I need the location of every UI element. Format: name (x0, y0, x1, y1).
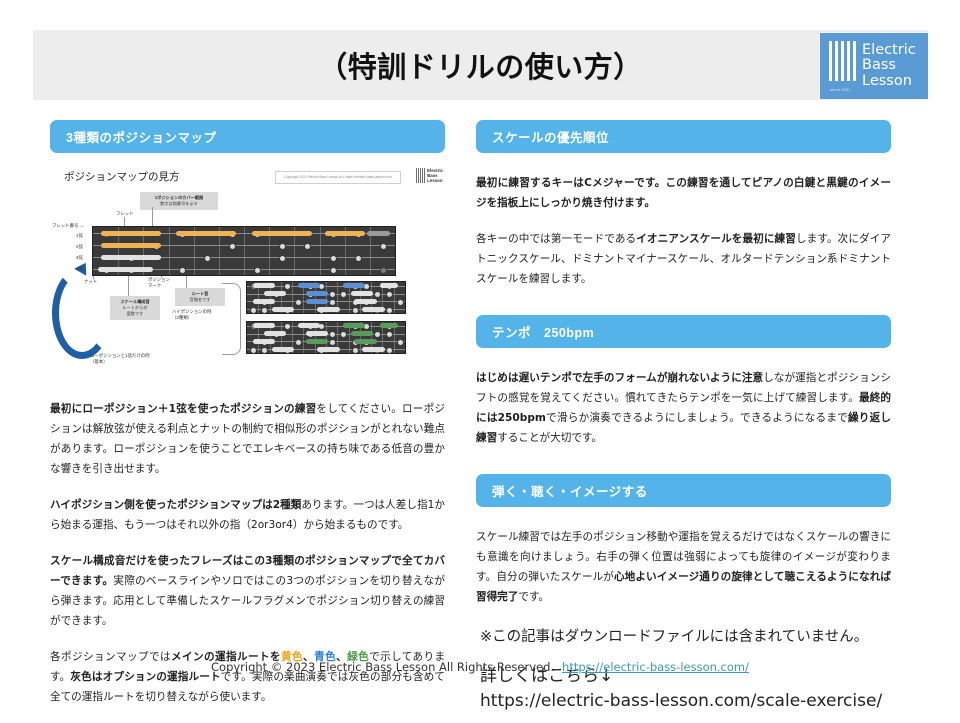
fret-dot (380, 267, 387, 274)
fret-dot (204, 255, 211, 262)
fingering-route (343, 323, 366, 328)
fret-dot (330, 267, 337, 274)
fret-line (169, 227, 170, 275)
fingering-route (306, 291, 329, 296)
string-label-3: 3弦 (76, 255, 83, 261)
fingering-route (253, 299, 276, 304)
left-paragraph-3: スケール構成音だけを使ったフレーズはこの3種類のポジションマップで全てカバーでき… (50, 551, 445, 631)
fret-dot (250, 347, 257, 354)
fingering-route (252, 231, 312, 236)
section-header-label: 3種類のポジションマップ (66, 127, 216, 146)
fingering-route (101, 255, 161, 260)
diagram-label-fret-number: フレット番号 → (52, 223, 84, 229)
fingering-route (253, 283, 276, 288)
diagram-callout-scale-tones: スケール構成音 ルートからの 度数です (110, 296, 160, 320)
section-header-2: テンポ 250bpm (476, 315, 891, 348)
fingering-route (380, 283, 398, 288)
fret-dot (295, 339, 302, 346)
fret-dot (374, 331, 381, 338)
position-map-diagram: ポジションマップの見方 Copyright 2021 Electric Bass… (50, 163, 445, 395)
fret-dot (340, 331, 347, 338)
fret-dot (329, 339, 336, 346)
fret-dot (386, 347, 393, 354)
diagram-brace (222, 283, 241, 355)
string-label-2: 2弦 (76, 244, 83, 250)
fret-dot (329, 331, 336, 338)
fret-dot (254, 267, 261, 274)
fingering-route (343, 283, 366, 288)
string-label-1: 1弦 (76, 233, 83, 239)
right-column: スケールの優先順位最初に練習するキーはCメジャーです。この練習を通してピアノの白… (476, 120, 891, 714)
text-run: はじめは遅いテンポで左手のフォームが崩れないように注意 (476, 372, 763, 384)
fingering-route (298, 283, 321, 288)
fingering-route (101, 231, 161, 236)
fingering-route (317, 347, 340, 352)
logo-strings-icon: since 2021 (829, 41, 856, 92)
fingering-route (176, 231, 236, 236)
fret-dot (355, 255, 362, 262)
diagram-label-high-position-2: （2種類） (172, 315, 192, 321)
fret-dot (386, 291, 393, 298)
fret-dot (352, 347, 359, 354)
fingering-route (298, 323, 321, 328)
fingering-route (98, 267, 153, 272)
page-title: （特訓ドリルの使い方） (33, 30, 928, 100)
left-paragraph-2: ハイポジション側を使ったポジションマップは2種類あります。一つは人差し指1から始… (50, 495, 445, 535)
note-disclaimer: ※この記事はダウンロードファイルには含まれていません。 (476, 625, 891, 646)
section-header-3: 弾く・聴く・イメージする (476, 474, 891, 507)
fret-dot (279, 243, 286, 250)
main-fretboard (92, 226, 396, 276)
fingering-route (354, 299, 377, 304)
text-run: 各キーの中では第一モードである (476, 233, 636, 245)
fingering-route (362, 307, 385, 312)
fret-dot (284, 283, 291, 290)
footer: Copyright © 2023 Electric Bass Lesson Al… (0, 660, 960, 674)
left-column: 3種類のポジションマップ ポジションマップの見方 Copyright 2021 … (50, 120, 445, 723)
fingering-route (351, 331, 374, 336)
fret-dot (304, 243, 311, 250)
text-run: です。 (518, 591, 549, 603)
logo-line-2: Bass (862, 58, 916, 74)
text-run: 最初に練習するキーはCメジャーです。この練習を通して (476, 177, 752, 189)
logo-line-3: Lesson (862, 74, 916, 90)
diagram-label-low-position-2: （基本） (90, 359, 108, 365)
diagram-logo-strings-icon (416, 168, 425, 183)
diagram-logo-wordmark: Electric Bass Lesson (427, 168, 443, 184)
fingering-route (351, 291, 374, 296)
fingering-route (325, 231, 365, 236)
brand-logo: since 2021 Electric Bass Lesson (820, 33, 928, 99)
fret-dot (279, 255, 286, 262)
fret-dot (261, 347, 268, 354)
diagram-leader-cover (152, 207, 153, 227)
fingering-route (253, 323, 276, 328)
text-run: で滑らか演奏できるようにしましょう。できるようになるまで (546, 412, 848, 424)
logo-wordmark: Electric Bass Lesson (862, 43, 916, 90)
fret-dot (352, 307, 359, 314)
right-paragraph-1-1: 最初に練習するキーはCメジャーです。この練習を通してピアノの白鍵と黒鍵のイメージ… (476, 173, 891, 213)
fret-dot (374, 291, 381, 298)
left-paragraph-4: 各ポジションマップではメインの運指ルートを黄色、青色、緑色で示してあります。灰色… (50, 647, 445, 707)
right-paragraph-2-1: はじめは遅いテンポで左手のフォームが崩れないように注意しなが運指とポジションシフ… (476, 368, 891, 448)
right-paragraph-1-2: 各キーの中では第一モードであるイオニアンスケールを最初に練習します。次にダイアト… (476, 229, 891, 289)
diagram-logo: Electric Bass Lesson (416, 168, 443, 184)
fret-dot (397, 299, 404, 306)
fingering-route (306, 331, 329, 336)
section-header-position-maps: 3種類のポジションマップ (50, 120, 445, 153)
section-header-label: テンポ 250bpm (492, 322, 594, 341)
fingering-route (380, 323, 398, 328)
text-run: することが大切です。 (497, 432, 602, 444)
fingering-route (272, 347, 295, 352)
diagram-logo-line-3: Lesson (427, 178, 443, 183)
right-column-sections: スケールの優先順位最初に練習するキーはCメジャーです。この練習を通してピアノの白… (476, 120, 891, 607)
fret-dot (229, 243, 236, 250)
fret-dot (284, 323, 291, 330)
section-header-label: スケールの優先順位 (492, 127, 609, 146)
fret-dot (295, 299, 302, 306)
diagram-label-position-mark-2: マーク (148, 283, 161, 289)
fret-dot (386, 307, 393, 314)
text-run: ハイポジション側を使ったポジションマップは2種類 (50, 499, 301, 511)
fret-dot (386, 331, 393, 338)
fret-dot (179, 267, 186, 274)
high-position-fretboard-2 (246, 321, 406, 354)
right-paragraph-3-1: スケール練習では左手のポジション移動や運指を覚えるだけではなくスケールの響きにも… (476, 527, 891, 607)
diagram-callout-root-line-2: 音階名です (179, 297, 221, 303)
fret-dot (397, 339, 404, 346)
fingering-route (272, 307, 295, 312)
diagram-callout-cover-line-2: 数字は指番号を示す (144, 201, 214, 207)
fingering-route (306, 339, 329, 344)
logo-since-text: since 2021 (830, 88, 851, 92)
fret-dot (329, 291, 336, 298)
header-band: （特訓ドリルの使い方） (33, 30, 928, 100)
diagram-title: ポジションマップの見方 (64, 169, 180, 184)
diagram-callout-root-note: ルート音 音階名です (175, 288, 225, 306)
high-position-fretboard-1 (246, 281, 406, 314)
diagram-copyright-box: Copyright 2021 Electric Bass Lesson ALL … (275, 171, 401, 184)
fret-dot (250, 307, 257, 314)
diagram-callout-scale-line-3: 度数です (114, 311, 156, 317)
diagram-leader-fret (124, 217, 125, 226)
fingering-route (264, 291, 287, 296)
fret-line (244, 227, 245, 275)
left-paragraph-1: 最初にローポジション＋1弦を使ったポジションの練習をしてください。ローポジション… (50, 399, 445, 479)
note-more-url[interactable]: https://electric-bass-lesson.com/scale-e… (480, 689, 891, 714)
fret-dot (330, 255, 337, 262)
fingering-route (354, 339, 377, 344)
fret-dot (329, 299, 336, 306)
section-header-1: スケールの優先順位 (476, 120, 891, 153)
fingering-route (317, 307, 340, 312)
footer-link[interactable]: https://electric-bass-lesson.com/ (562, 660, 749, 674)
logo-line-1: Electric (862, 43, 916, 59)
fret-dot (340, 291, 347, 298)
fingering-route (101, 243, 161, 248)
text-run: 最初にローポジション＋1弦を使ったポジションの練習 (50, 403, 316, 415)
fret-dot (380, 243, 387, 250)
fingering-route (264, 331, 287, 336)
fingering-route (253, 339, 276, 344)
fingering-route (306, 299, 329, 304)
text-run: イオニアンスケールを最初に練習 (636, 233, 796, 245)
string-label-4: 4弦 (76, 266, 83, 272)
footer-copyright: Copyright © 2023 Electric Bass Lesson Al… (211, 660, 554, 674)
fingering-route (367, 231, 390, 236)
diagram-blue-arrow (52, 267, 112, 359)
fret-dot (261, 307, 268, 314)
fingering-route (362, 347, 385, 352)
fret-line (320, 227, 321, 275)
section-header-label: 弾く・聴く・イメージする (492, 481, 648, 500)
